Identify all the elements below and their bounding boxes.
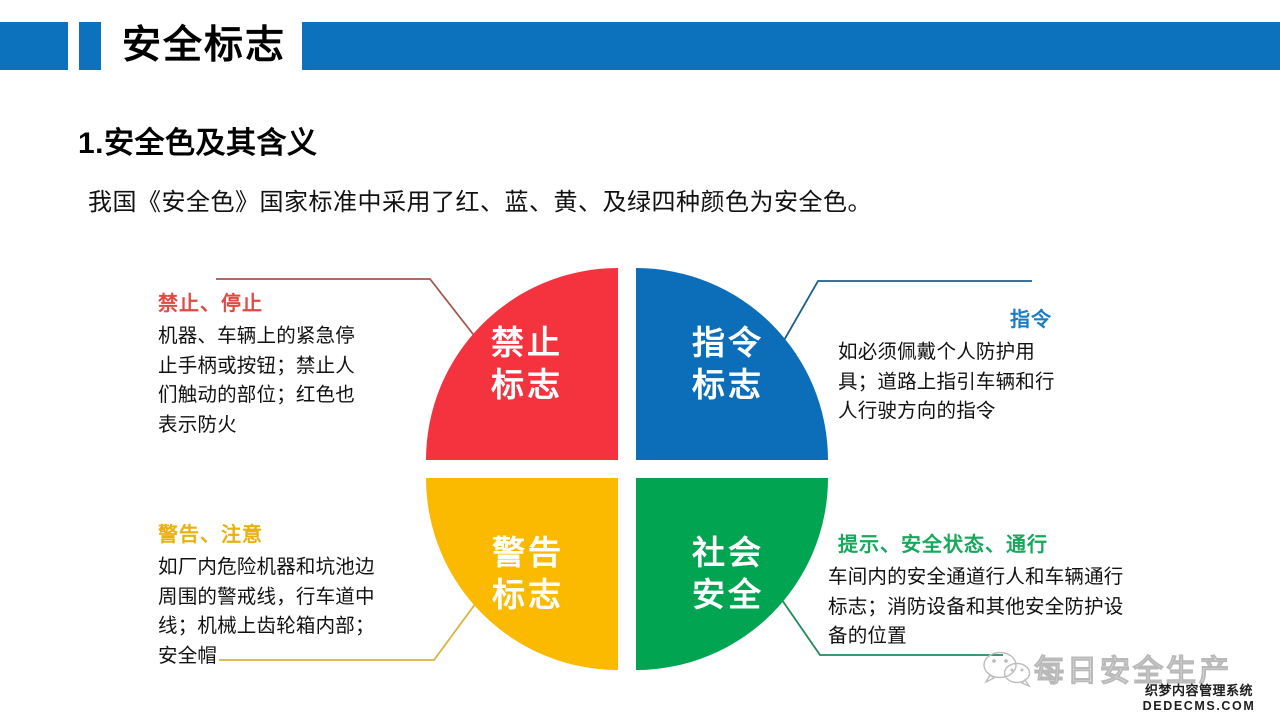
section-heading: 1.安全色及其含义 bbox=[78, 118, 318, 162]
callout-prohibit-body: 机器、车辆上的紧急停止手柄或按钮；禁止人们触动的部位；红色也表示防火 bbox=[158, 322, 372, 441]
quadrant-warning[interactable]: 警告 标志 bbox=[426, 478, 618, 670]
watermark-cms: 织梦内容管理系统 DEDECMS.COM bbox=[1128, 684, 1270, 714]
callout-mandatory: 指令 如必须佩戴个人防护用具；道路上指引车辆和行人行驶方向的指令 bbox=[838, 303, 1070, 427]
wechat-icon bbox=[978, 648, 1034, 688]
safety-color-circle-diagram: 禁止 标志 指令 标志 警告 标志 社会 安全 bbox=[426, 268, 828, 670]
quadrant-warning-line1: 警告 bbox=[492, 532, 564, 574]
callout-warning: 警告、注意 如厂内危险机器和坑池边周围的警戒线，行车道中线；机械上齿轮箱内部；安… bbox=[158, 518, 388, 672]
watermark: 每日安全生产 织梦内容管理系统 DEDECMS.COM bbox=[978, 648, 1278, 720]
section-intro-text: 我国《安全色》国家标准中采用了红、蓝、黄、及绿四种颜色为安全色。 bbox=[88, 182, 872, 217]
quadrant-mandatory-line2: 标志 bbox=[692, 364, 764, 406]
callout-safety: 提示、安全状态、通行 车间内的安全通道行人和车辆通行标志；消防设备和其他安全防护… bbox=[828, 528, 1128, 652]
page-title: 安全标志 bbox=[122, 16, 312, 76]
callout-prohibit-title: 禁止、停止 bbox=[158, 287, 372, 316]
quadrant-mandatory-line1: 指令 bbox=[692, 322, 764, 364]
callout-warning-title: 警告、注意 bbox=[158, 518, 388, 547]
callout-mandatory-body: 如必须佩戴个人防护用具；道路上指引车辆和行人行驶方向的指令 bbox=[838, 338, 1070, 427]
callout-mandatory-title: 指令 bbox=[1010, 303, 1070, 332]
callout-safety-body: 车间内的安全通道行人和车辆通行标志；消防设备和其他安全防护设备的位置 bbox=[828, 563, 1128, 652]
callout-warning-body: 如厂内危险机器和坑池边周围的警戒线，行车道中线；机械上齿轮箱内部；安全帽 bbox=[158, 553, 388, 672]
quadrant-safety-line2: 安全 bbox=[692, 574, 764, 616]
watermark-cms-en: DEDECMS.COM bbox=[1128, 699, 1270, 714]
quadrant-safety[interactable]: 社会 安全 bbox=[636, 478, 828, 670]
header-accent-block-left bbox=[0, 22, 68, 70]
quadrant-safety-line1: 社会 bbox=[692, 532, 764, 574]
quadrant-warning-line2: 标志 bbox=[492, 574, 564, 616]
quadrant-prohibit-line1: 禁止 bbox=[491, 322, 563, 364]
quadrant-prohibit-line2: 标志 bbox=[491, 364, 563, 406]
header-accent-bar-right bbox=[302, 22, 1280, 70]
watermark-cms-cn: 织梦内容管理系统 bbox=[1128, 684, 1270, 699]
header-accent-block-small bbox=[79, 22, 101, 70]
quadrant-prohibit[interactable]: 禁止 标志 bbox=[426, 268, 618, 460]
callout-prohibit: 禁止、停止 机器、车辆上的紧急停止手柄或按钮；禁止人们触动的部位；红色也表示防火 bbox=[158, 287, 372, 441]
callout-safety-title: 提示、安全状态、通行 bbox=[838, 528, 1128, 557]
quadrant-mandatory[interactable]: 指令 标志 bbox=[636, 268, 828, 460]
